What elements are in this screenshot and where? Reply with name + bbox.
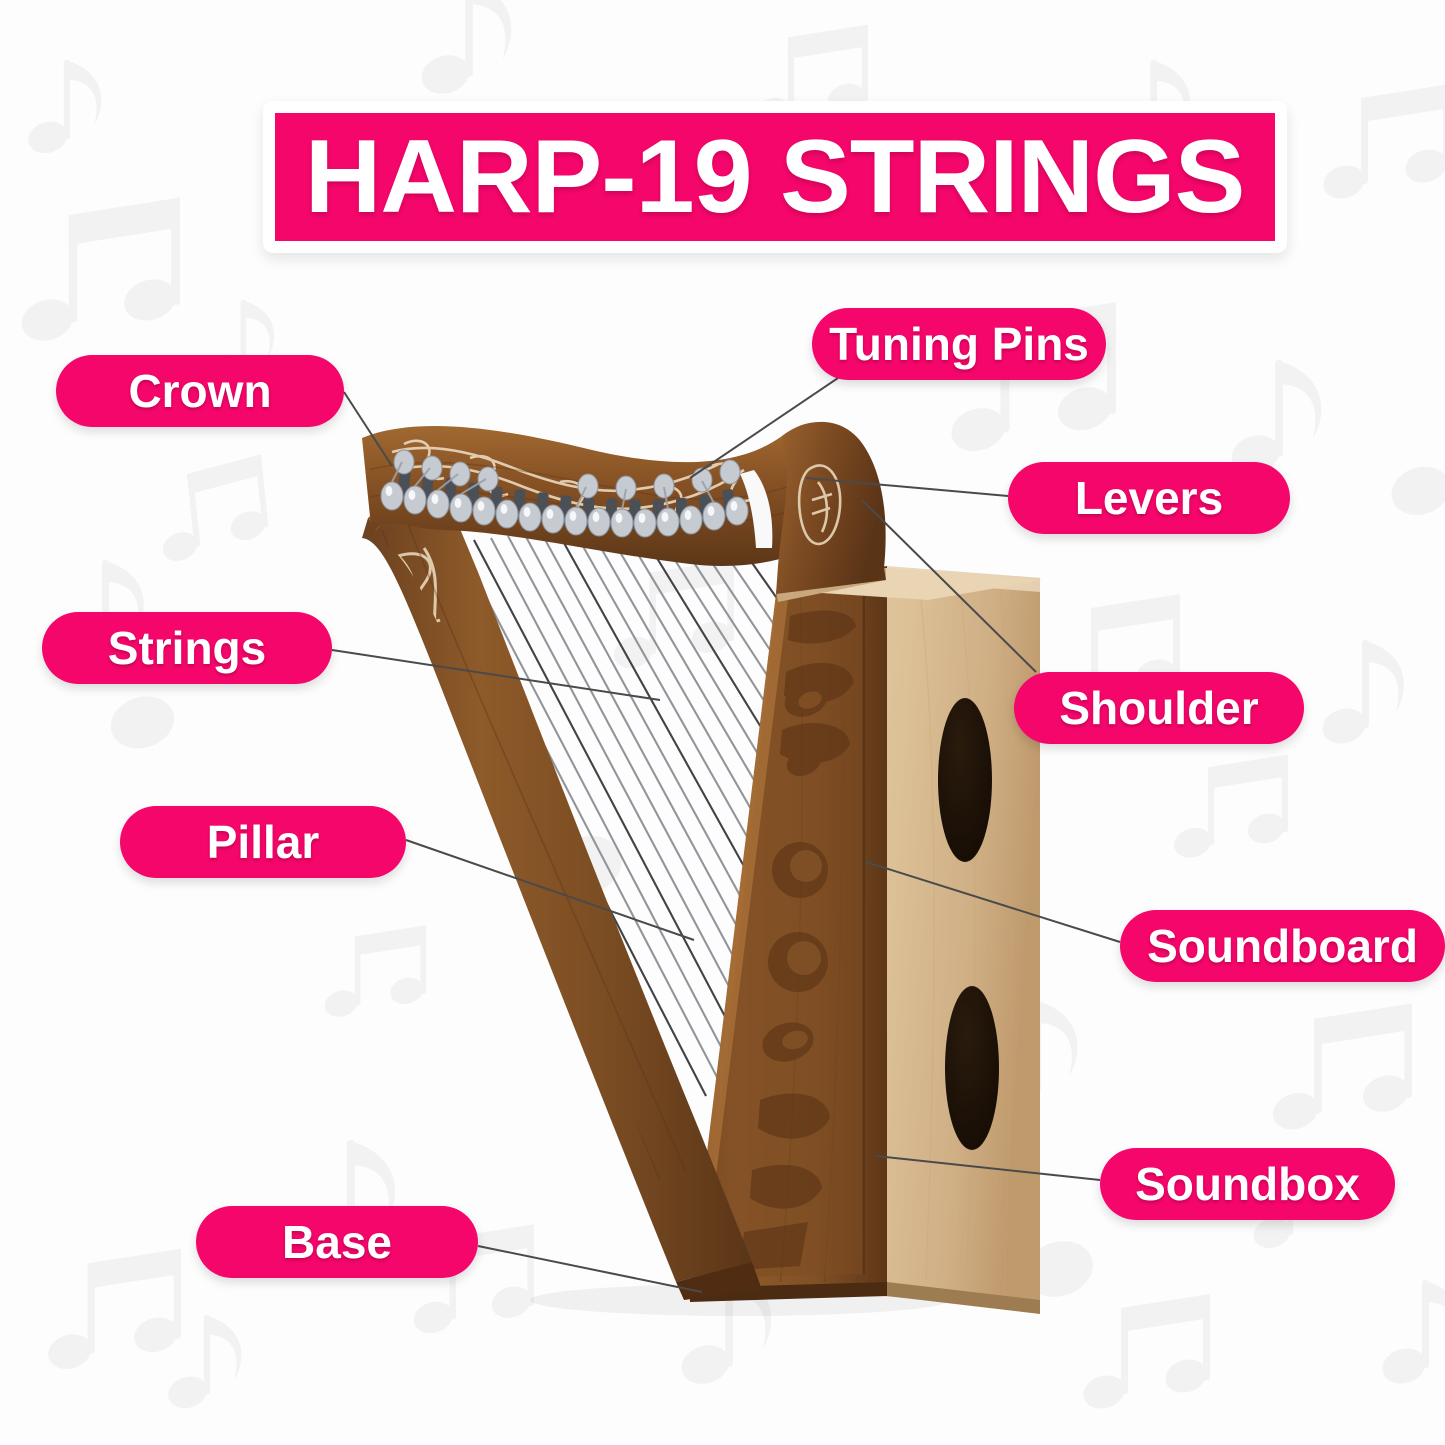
callout-levers[interactable]: Levers — [1008, 462, 1290, 534]
leader-pillar — [406, 840, 694, 940]
page-title: HARP-19 STRINGS — [305, 125, 1245, 229]
callout-strings-label: Strings — [108, 625, 266, 671]
leader-crown — [344, 392, 392, 466]
callout-soundbox[interactable]: Soundbox — [1100, 1148, 1395, 1220]
callout-soundboard-label: Soundboard — [1147, 923, 1418, 969]
callout-soundbox-label: Soundbox — [1135, 1161, 1360, 1207]
callout-base-label: Base — [282, 1219, 392, 1265]
callout-shoulder[interactable]: Shoulder — [1014, 672, 1304, 744]
callout-pillar[interactable]: Pillar — [120, 806, 406, 878]
callout-soundboard[interactable]: Soundboard — [1120, 910, 1445, 982]
callout-strings[interactable]: Strings — [42, 612, 332, 684]
title-banner-frame: HARP-19 STRINGS — [263, 101, 1287, 253]
leader-soundbox — [876, 1156, 1100, 1180]
callout-tuning-pins[interactable]: Tuning Pins — [812, 308, 1106, 380]
poster-canvas: HARP-19 STRINGS Crown Tuning Pins Levers… — [0, 0, 1445, 1445]
title-banner: HARP-19 STRINGS — [275, 113, 1275, 241]
callout-levers-label: Levers — [1075, 475, 1223, 521]
leader-tuning-pins — [690, 378, 838, 478]
callout-crown-label: Crown — [128, 368, 271, 414]
leader-levers — [806, 478, 1008, 496]
callout-base[interactable]: Base — [196, 1206, 478, 1278]
callout-shoulder-label: Shoulder — [1059, 685, 1258, 731]
callout-tuning-pins-label: Tuning Pins — [829, 321, 1089, 367]
leader-shoulder — [862, 500, 1036, 672]
leader-soundboard — [866, 862, 1120, 942]
leader-strings — [332, 650, 660, 700]
callout-crown[interactable]: Crown — [56, 355, 344, 427]
callout-pillar-label: Pillar — [207, 819, 320, 865]
leader-base — [478, 1246, 702, 1292]
